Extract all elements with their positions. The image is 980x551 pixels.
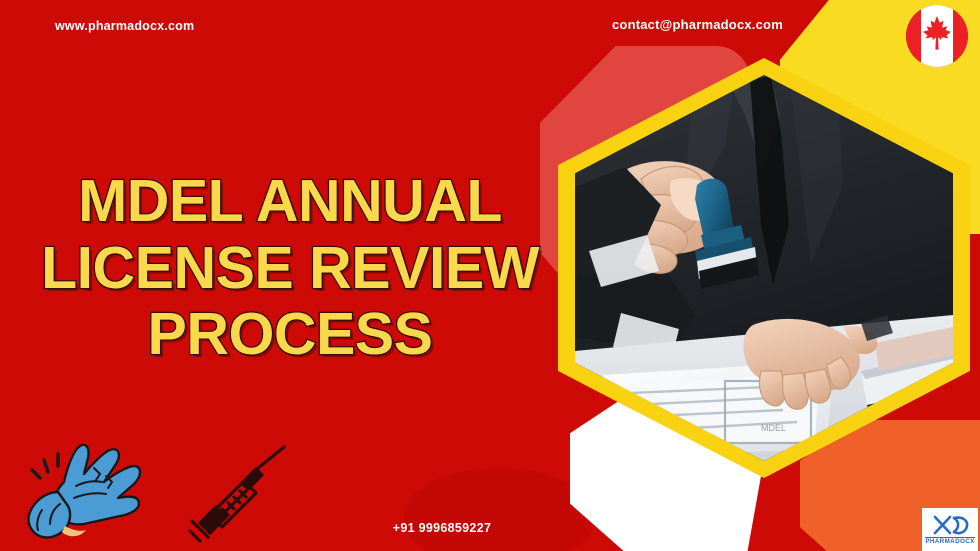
decorative-watermark-blob: [404, 468, 594, 551]
poster-canvas: www.pharmadocx.com contact@pharmadocx.co…: [0, 0, 980, 551]
hero-photo-hexagon: MDEL: [558, 58, 970, 478]
phone-number-text: +91 9996859227: [393, 521, 491, 535]
pharmadocx-logo-text: PHARMADOCX: [925, 537, 974, 546]
canada-flag-icon: [906, 5, 968, 67]
contact-header-bar: www.pharmadocx.com contact@pharmadocx.co…: [0, 0, 980, 52]
pharmadocx-logo[interactable]: PHARMADOCX: [922, 508, 978, 551]
phone-number[interactable]: +91 9996859227: [0, 521, 980, 535]
svg-text:MDEL: MDEL: [761, 423, 786, 433]
title-line-3: PROCESS: [0, 301, 580, 368]
pharmadocx-xo-monogram-icon: [930, 514, 970, 536]
contact-email[interactable]: contact@pharmadocx.com: [612, 17, 783, 32]
website-url[interactable]: www.pharmadocx.com: [55, 19, 194, 33]
page-title: MDEL ANNUAL LICENSE REVIEW PROCESS: [0, 168, 580, 368]
title-line-2: LICENSE REVIEW: [0, 235, 580, 302]
title-line-1: MDEL ANNUAL: [0, 168, 580, 235]
